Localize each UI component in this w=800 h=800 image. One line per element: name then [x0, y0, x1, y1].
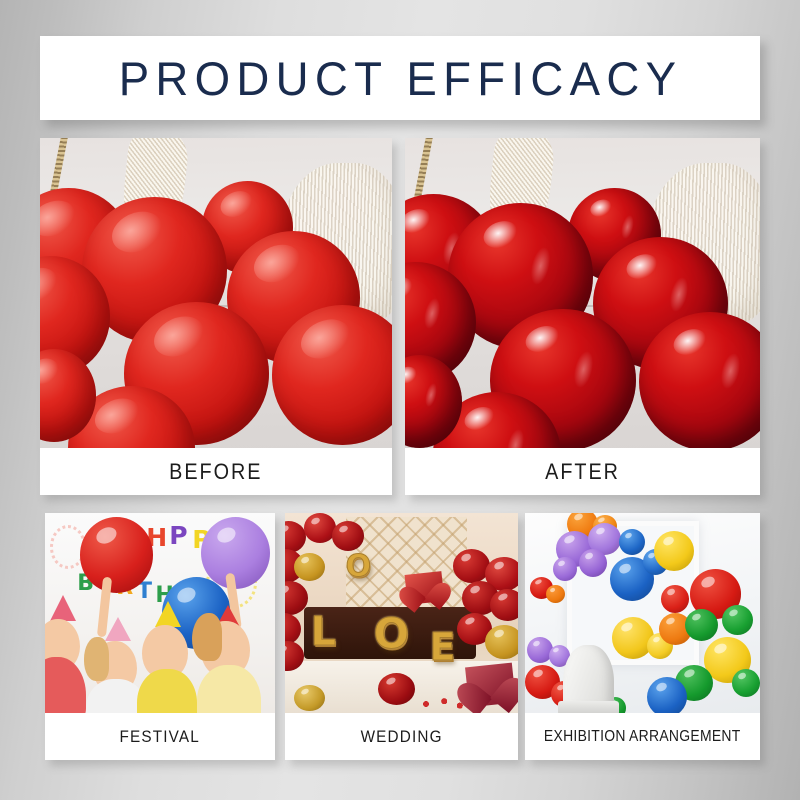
usecase-panel-wedding: O L O E WEDDING — [285, 513, 518, 760]
after-balloon-scene — [405, 138, 760, 448]
balloon — [654, 531, 694, 571]
love-balloon-letter: E — [429, 625, 455, 669]
rose-petals — [413, 697, 478, 711]
balloon — [201, 517, 270, 589]
exhibition-photo — [525, 513, 760, 713]
usecase-panel-festival: H P P B I R T H — [45, 513, 275, 760]
exhibition-balloon-garland-scene — [525, 513, 760, 713]
balloon — [546, 585, 565, 603]
title-card: PRODUCT EFFICACY — [40, 36, 760, 120]
exhibition-label: EXHIBITION ARRANGEMENT — [544, 728, 741, 746]
balloon — [485, 625, 518, 659]
before-label: BEFORE — [169, 459, 262, 485]
party-hat-icon — [105, 617, 131, 641]
love-balloon-letter: L — [311, 609, 337, 655]
balloon — [619, 529, 645, 555]
sculpture-pedestal — [558, 701, 619, 713]
love-balloon-letter: O — [346, 549, 372, 584]
balloon — [490, 589, 518, 621]
after-label: AFTER — [545, 459, 620, 485]
balloon — [732, 669, 760, 697]
love-balloon-letter: O — [374, 609, 410, 658]
foil-heart-icon — [405, 571, 445, 605]
balloon — [579, 549, 607, 577]
wedding-label-band: WEDDING — [285, 713, 518, 760]
hair — [192, 613, 222, 661]
festival-label: FESTIVAL — [120, 727, 201, 747]
balloon — [332, 521, 365, 551]
balloon — [80, 517, 154, 593]
after-photo — [405, 138, 760, 448]
balloon — [294, 553, 324, 581]
balloon — [294, 685, 324, 711]
wall-letter: P — [169, 521, 187, 550]
hair — [84, 637, 109, 681]
wedding-photo: O L O E — [285, 513, 518, 713]
after-label-band: AFTER — [405, 448, 760, 495]
balloon — [722, 605, 753, 635]
festival-photo: H P P B I R T H — [45, 513, 275, 713]
balloon — [685, 609, 718, 641]
before-label-band: BEFORE — [40, 448, 392, 495]
wedding-label: WEDDING — [360, 727, 442, 747]
comparison-panel-before: BEFORE — [40, 138, 392, 495]
party-hat-icon — [50, 595, 76, 621]
exhibition-label-band: EXHIBITION ARRANGEMENT — [525, 713, 760, 760]
balloon — [647, 677, 687, 713]
usecase-panel-exhibition: EXHIBITION ARRANGEMENT — [525, 513, 760, 760]
before-photo — [40, 138, 392, 448]
before-balloon-scene — [40, 138, 392, 448]
festival-party-scene: H P P B I R T H — [45, 513, 275, 713]
festival-label-band: FESTIVAL — [45, 713, 275, 760]
party-hat-icon — [155, 601, 181, 627]
wedding-decor-scene: O L O E — [285, 513, 518, 713]
page-title: PRODUCT EFFICACY — [118, 51, 682, 106]
balloon — [553, 557, 577, 581]
comparison-panel-after: AFTER — [405, 138, 760, 495]
balloon — [453, 549, 490, 583]
